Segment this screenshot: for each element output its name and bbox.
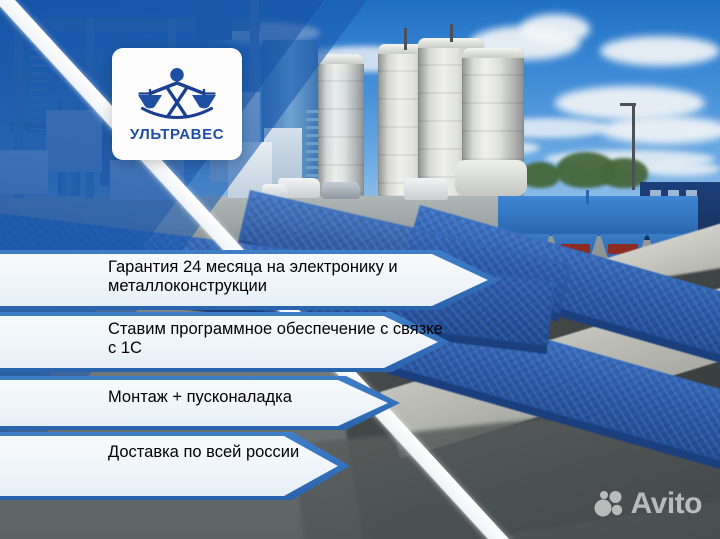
feature-panel-delivery[interactable]: Доставка по всей россии (0, 432, 350, 500)
feature-text: Гарантия 24 месяца на электронику и мета… (108, 258, 500, 296)
feature-text: Монтаж + пусконаладка (108, 388, 292, 407)
feature-panel-list: Гарантия 24 месяца на электронику и мета… (0, 0, 720, 539)
feature-panel-warranty[interactable]: Гарантия 24 месяца на электронику и мета… (0, 250, 500, 310)
avito-watermark: Avito (594, 489, 702, 519)
avito-label: Avito (631, 489, 702, 519)
ad-creative: УЛЬТРАВЕС Гарантия 24 месяца на электрон… (0, 0, 720, 539)
feature-text: Доставка по всей россии (108, 443, 299, 462)
avito-dots-icon (594, 489, 624, 519)
feature-panel-software[interactable]: Ставим программное обеспечение с связке … (0, 312, 450, 372)
feature-panel-install[interactable]: Монтаж + пусконаладка (0, 376, 400, 430)
feature-text: Ставим программное обеспечение с связке … (108, 320, 450, 358)
